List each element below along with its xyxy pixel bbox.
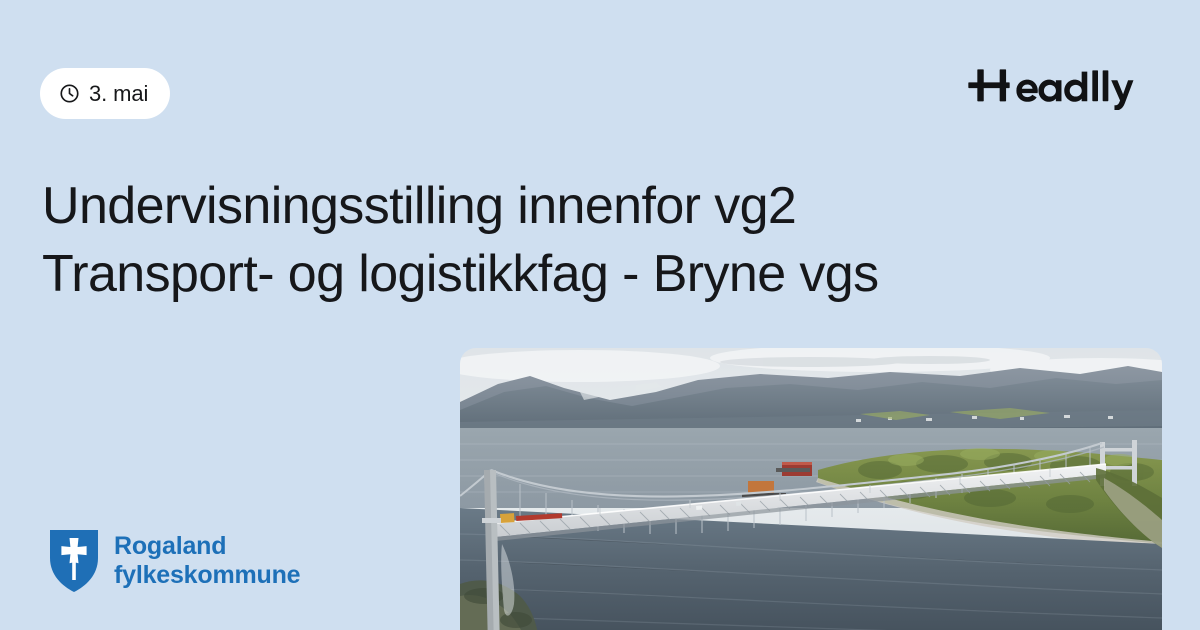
clock-icon bbox=[59, 83, 80, 104]
organization-logo: Rogaland fylkeskommune bbox=[48, 528, 300, 594]
page-title: Undervisningsstilling innenfor vg2 Trans… bbox=[42, 172, 1052, 308]
hero-image bbox=[460, 348, 1162, 630]
date-badge: 3. mai bbox=[40, 68, 170, 119]
date-label: 3. mai bbox=[89, 83, 148, 105]
shield-cross-icon bbox=[48, 528, 100, 594]
share-card: 3. mai Underv bbox=[0, 0, 1200, 630]
organization-name: Rogaland fylkeskommune bbox=[114, 532, 300, 590]
headly-logo[interactable] bbox=[968, 62, 1162, 110]
